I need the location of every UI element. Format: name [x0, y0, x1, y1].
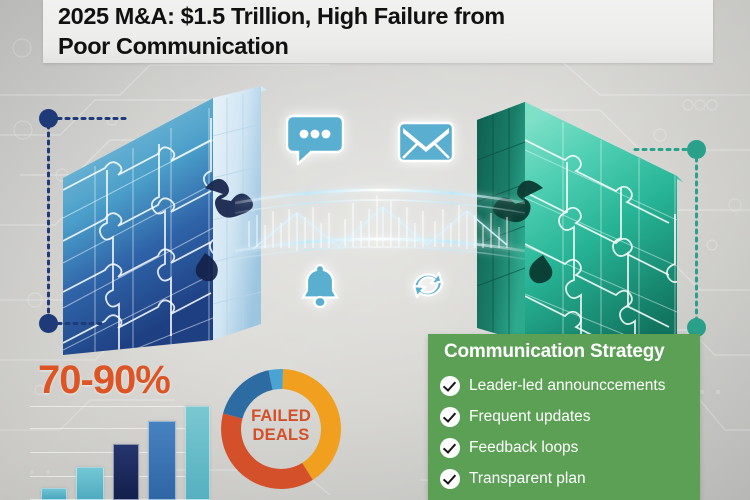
communication-strategy-panel: Communication Strategy Leader-led announ…: [428, 334, 700, 500]
check-circle-icon: [440, 376, 460, 396]
bar-2: [76, 467, 104, 500]
failed-deals-donut: FAILED DEALS: [215, 363, 347, 495]
title-panel: 2025 M&A: $1.5 Trillion, High Failure fr…: [43, 0, 713, 63]
page-title: 2025 M&A: $1.5 Trillion, High Failure fr…: [58, 1, 698, 61]
envelope-icon: [397, 120, 455, 164]
bar-5: [185, 406, 210, 500]
bell-icon: [299, 262, 341, 308]
strategy-item-label: Leader-led announccements: [469, 377, 665, 395]
bar-4: [148, 421, 176, 500]
gridline: [30, 428, 210, 429]
bar-1: [41, 488, 67, 500]
connector-line-right: [620, 130, 750, 360]
bar-chart: [30, 398, 210, 500]
infographic-canvas: 70-90% FAILED DEALS: [0, 0, 750, 500]
bar-3: [113, 444, 139, 500]
check-circle-icon: [440, 438, 460, 458]
strategy-item-label: Frequent updates: [469, 408, 591, 426]
list-item: Leader-led announccements: [440, 370, 694, 401]
donut-center-label: FAILED DEALS: [215, 407, 347, 445]
strategy-panel-title: Communication Strategy: [444, 341, 664, 363]
sync-arrows-icon: [404, 262, 452, 308]
strategy-item-label: Feedback loops: [469, 439, 578, 457]
check-circle-icon: [440, 407, 460, 427]
gridline: [30, 406, 210, 407]
strategy-checklist: Leader-led announccements Frequent updat…: [440, 370, 694, 494]
chat-bubble-icon: [286, 113, 344, 165]
list-item: Transparent plan: [440, 463, 694, 494]
connector-line-left: [0, 100, 130, 345]
strategy-item-label: Transparent plan: [469, 470, 586, 488]
communication-bridge: [235, 165, 525, 275]
failure-rate-stat: 70-90%: [38, 358, 170, 403]
list-item: Feedback loops: [440, 432, 694, 463]
check-circle-icon: [440, 469, 460, 489]
list-item: Frequent updates: [440, 401, 694, 432]
